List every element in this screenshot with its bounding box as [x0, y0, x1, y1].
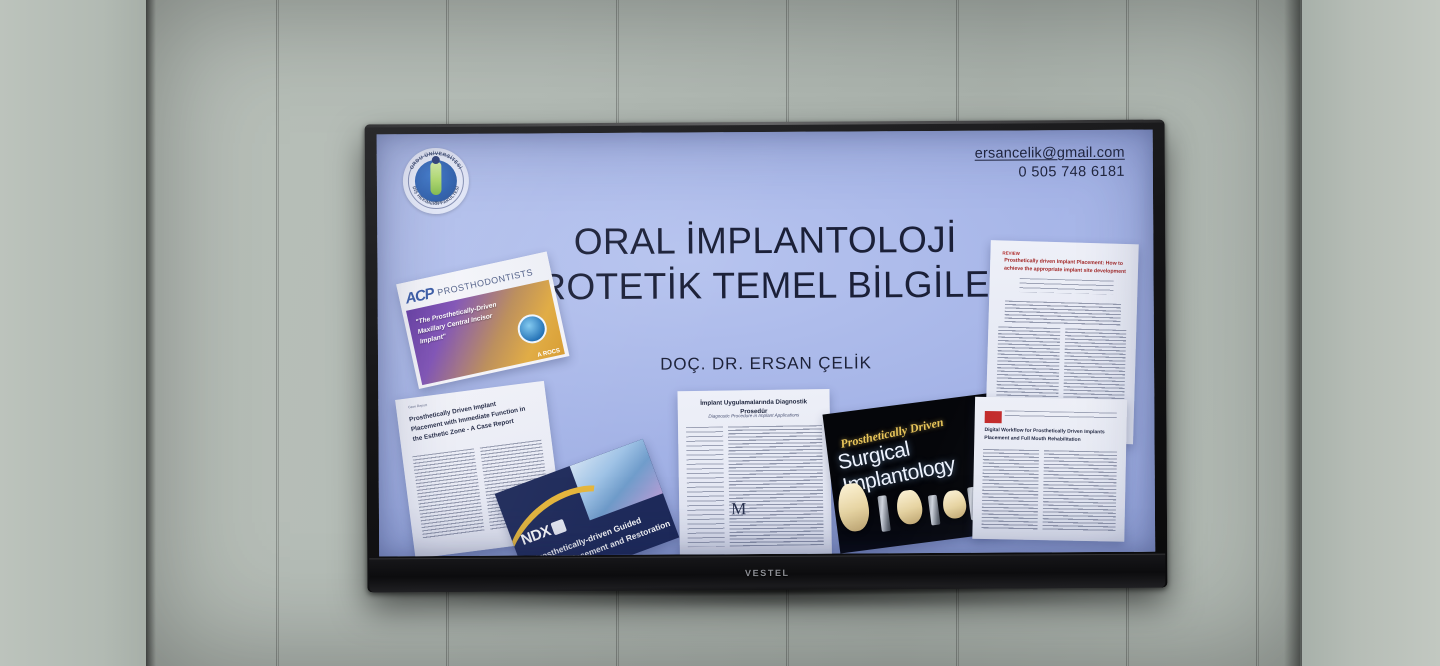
journal-center-thumbnail: İmplant Uygulamalarında Diagnostik Prose…	[677, 389, 832, 556]
university-logo: ORDU ÜNİVERSİTESİ DİŞ HEKİMLİĞİ FAKÜLTES…	[403, 148, 469, 214]
presentation-slide: ORDU ÜNİVERSİTESİ DİŞ HEKİMLİĞİ FAKÜLTES…	[377, 130, 1156, 557]
review-label: REVIEW	[1002, 250, 1019, 255]
email-address[interactable]: ersancelik@gmail.com	[975, 144, 1125, 164]
logo-year: 2009	[431, 200, 441, 205]
logo-arc-top-text: ORDU ÜNİVERSİTESİ	[409, 150, 464, 171]
television[interactable]: ORDU ÜNİVERSİTESİ DİŞ HEKİMLİĞİ FAKÜLTES…	[365, 120, 1168, 593]
article-right-title: Digital Workflow for Prosthetically Driv…	[984, 427, 1116, 445]
acp-logo: ACP	[404, 285, 436, 308]
svg-text:ORDU ÜNİVERSİTESİ: ORDU ÜNİVERSİTESİ	[409, 150, 464, 171]
article-left-kicker: Case Report	[408, 403, 427, 409]
room-scene: ORDU ÜNİVERSİTESİ DİŞ HEKİMLİĞİ FAKÜLTES…	[0, 0, 1440, 666]
review-authors	[1019, 278, 1113, 295]
phone-number: 0 505 748 6181	[975, 163, 1125, 183]
review-title: Prosthetically driven Implant Placement:…	[1004, 257, 1126, 276]
journal-dropcap: M	[731, 503, 746, 517]
acp-footer: A ROCS	[537, 348, 561, 359]
publisher-badge-icon	[985, 411, 1002, 423]
article-right-thumbnail: Digital Workflow for Prosthetically Driv…	[972, 397, 1127, 542]
slide-title-line1: ORAL İMPLANTOLOJİ	[574, 219, 957, 262]
tv-brand-label: VESTEL	[745, 568, 790, 578]
article-right-publisher	[1005, 410, 1117, 420]
journal-subtitle: Diagnostic Procedure in Implant Applicat…	[692, 412, 816, 419]
contact-block: ersancelik@gmail.com 0 505 748 6181	[975, 144, 1125, 184]
tv-screen[interactable]: ORDU ÜNİVERSİTESİ DİŞ HEKİMLİĞİ FAKÜLTES…	[377, 130, 1156, 557]
article-left-title: Prosthetically Driven Implant Placement …	[408, 394, 531, 445]
wood-panel-right-edge	[1284, 0, 1302, 666]
wall-right-panel	[1300, 0, 1440, 666]
wall-left-panel	[0, 0, 146, 666]
wood-panel-left-edge	[146, 0, 156, 666]
